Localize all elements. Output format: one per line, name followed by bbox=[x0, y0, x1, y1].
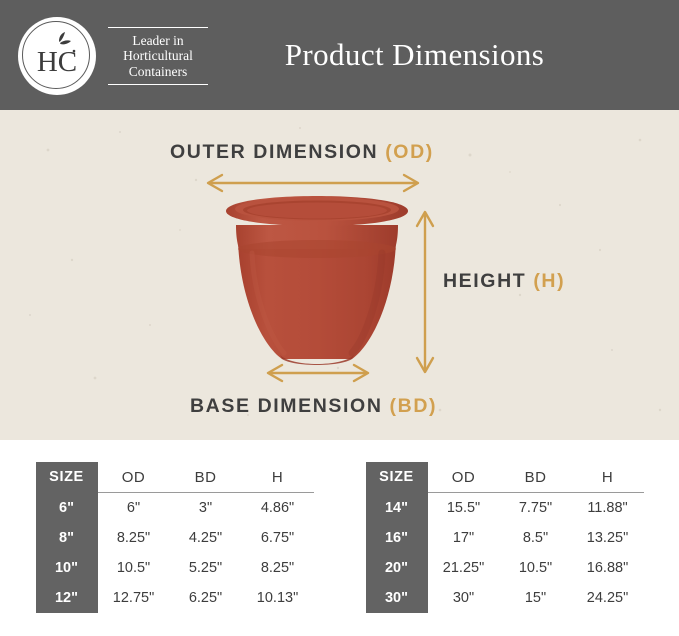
table-header-row: SIZE OD BD H bbox=[366, 462, 644, 493]
cell-od: 21.25" bbox=[428, 553, 500, 583]
base-dimension-code: (BD) bbox=[390, 395, 438, 417]
cell-size: 14" bbox=[366, 493, 428, 524]
cell-bd: 7.75" bbox=[500, 493, 572, 524]
cell-od: 17" bbox=[428, 523, 500, 553]
table-header-row: SIZE OD BD H bbox=[36, 462, 314, 493]
cell-bd: 3" bbox=[170, 493, 242, 524]
table-row: 14" 15.5" 7.75" 11.88" bbox=[366, 493, 644, 524]
outer-dimension-text: OUTER DIMENSION bbox=[170, 141, 378, 163]
cell-od: 15.5" bbox=[428, 493, 500, 524]
cell-h: 4.86" bbox=[242, 493, 314, 524]
cell-size: 20" bbox=[366, 553, 428, 583]
cell-h: 16.88" bbox=[572, 553, 644, 583]
cell-od: 12.75" bbox=[98, 583, 170, 613]
height-code: (H) bbox=[533, 270, 565, 292]
table-row: 16" 17" 8.5" 13.25" bbox=[366, 523, 644, 553]
base-dimension-arrow-icon bbox=[262, 362, 374, 384]
column-header-size: SIZE bbox=[366, 462, 428, 493]
outer-dimension-code: (OD) bbox=[385, 141, 434, 163]
column-header-h: H bbox=[572, 462, 644, 493]
cell-size: 30" bbox=[366, 583, 428, 613]
cell-size: 16" bbox=[366, 523, 428, 553]
dimension-tables: SIZE OD BD H 6" 6" 3" 4.86" 8" 8.25" 4.2… bbox=[0, 462, 679, 613]
height-arrow-icon bbox=[412, 206, 438, 378]
outer-dimension-arrow-icon bbox=[202, 172, 424, 194]
cell-bd: 10.5" bbox=[500, 553, 572, 583]
cell-h: 13.25" bbox=[572, 523, 644, 553]
table-row: 6" 6" 3" 4.86" bbox=[36, 493, 314, 524]
height-label: HEIGHT (H) bbox=[443, 270, 565, 293]
cell-bd: 5.25" bbox=[170, 553, 242, 583]
column-header-od: OD bbox=[428, 462, 500, 493]
table-row: 12" 12.75" 6.25" 10.13" bbox=[36, 583, 314, 613]
table-row: 10" 10.5" 5.25" 8.25" bbox=[36, 553, 314, 583]
cell-h: 24.25" bbox=[572, 583, 644, 613]
cell-size: 8" bbox=[36, 523, 98, 553]
logo-circle-icon: HC bbox=[18, 17, 96, 95]
outer-dimension-label: OUTER DIMENSION (OD) bbox=[170, 141, 434, 164]
base-dimension-label: BASE DIMENSION (BD) bbox=[190, 395, 437, 418]
cell-od: 10.5" bbox=[98, 553, 170, 583]
cell-size: 10" bbox=[36, 553, 98, 583]
cell-bd: 6.25" bbox=[170, 583, 242, 613]
table-row: 20" 21.25" 10.5" 16.88" bbox=[366, 553, 644, 583]
column-header-h: H bbox=[242, 462, 314, 493]
cell-h: 11.88" bbox=[572, 493, 644, 524]
cell-bd: 8.5" bbox=[500, 523, 572, 553]
table-row: 30" 30" 15" 24.25" bbox=[366, 583, 644, 613]
dimension-table-large: SIZE OD BD H 14" 15.5" 7.75" 11.88" 16" … bbox=[366, 462, 644, 613]
cell-bd: 4.25" bbox=[170, 523, 242, 553]
hc-monogram-icon: HC bbox=[28, 27, 86, 85]
page-title: Product Dimensions bbox=[0, 0, 679, 110]
cell-h: 10.13" bbox=[242, 583, 314, 613]
column-header-bd: BD bbox=[500, 462, 572, 493]
cell-bd: 15" bbox=[500, 583, 572, 613]
dimensions-diagram: OUTER DIMENSION (OD) bbox=[0, 110, 679, 440]
dimension-table-small: SIZE OD BD H 6" 6" 3" 4.86" 8" 8.25" 4.2… bbox=[36, 462, 314, 613]
cell-h: 6.75" bbox=[242, 523, 314, 553]
column-header-bd: BD bbox=[170, 462, 242, 493]
table-row: 8" 8.25" 4.25" 6.75" bbox=[36, 523, 314, 553]
cell-size: 12" bbox=[36, 583, 98, 613]
cell-od: 6" bbox=[98, 493, 170, 524]
cell-h: 8.25" bbox=[242, 553, 314, 583]
page-header: HC Leader in Horticultural Containers Pr… bbox=[0, 0, 679, 110]
plant-pot-illustration bbox=[222, 195, 412, 380]
svg-text:HC: HC bbox=[37, 46, 77, 78]
base-dimension-text: BASE DIMENSION bbox=[190, 395, 383, 417]
height-text: HEIGHT bbox=[443, 270, 526, 292]
cell-od: 8.25" bbox=[98, 523, 170, 553]
cell-od: 30" bbox=[428, 583, 500, 613]
column-header-od: OD bbox=[98, 462, 170, 493]
cell-size: 6" bbox=[36, 493, 98, 524]
column-header-size: SIZE bbox=[36, 462, 98, 493]
